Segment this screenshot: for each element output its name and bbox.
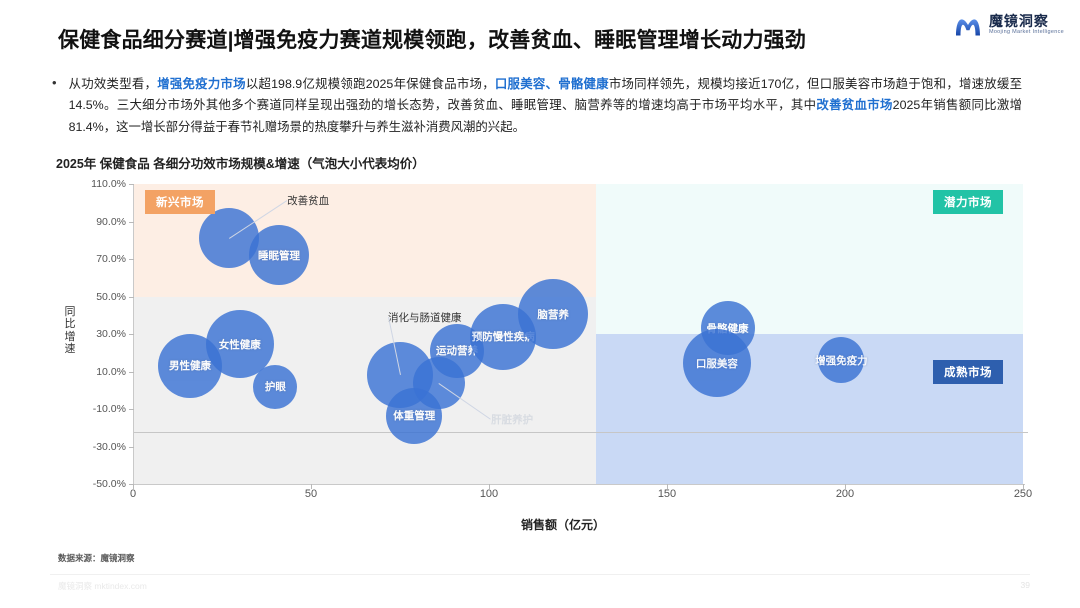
x-axis-tick-mark [311,484,312,489]
x-axis-tick-mark [667,484,668,489]
x-axis-tick-label: 200 [825,488,865,500]
y-axis-title: 同比增速 [62,306,78,355]
data-source-note: 数据来源：魔镜洞察 [58,552,135,564]
lede-text: 从功效类型看，增强免疫力市场以超198.9亿规模领跑2025年保健食品市场，口服… [69,74,1022,138]
lede-segment-1: 增强免疫力市场 [157,77,246,91]
bubble-label: 男性健康 [169,358,211,373]
bubble-1[interactable]: 睡眠管理 [249,225,309,285]
logo-name-cn: 魔镜洞察 [989,14,1064,29]
page-number: 39 [0,580,1030,590]
zone-badge-emerging: 新兴市场 [145,190,215,214]
y-axis-tick-mark [129,297,134,298]
lede-segment-0: 从功效类型看， [69,77,158,91]
y-axis-tick-label: 90.0% [58,216,126,228]
x-axis-tick-mark [1023,484,1024,489]
bubble-10[interactable]: 脑营养 [518,279,588,349]
x-axis-tick-label: 150 [647,488,687,500]
bubble-external-label: 改善贫血 [287,193,329,208]
bubble-label: 睡眠管理 [258,248,300,263]
moojing-m-logo-icon [953,10,983,40]
lede-segment-2: 以超198.9亿规模领跑2025年保健食品市场， [246,77,495,91]
x-axis-tick-label: 50 [291,488,331,500]
logo-wordmark: 魔镜洞察 Moojing Market Intelligence [989,14,1064,36]
zone-badge-potential: 潜力市场 [933,190,1003,214]
y-axis-tick-mark [129,334,134,335]
bubble-label: 增强免疫力 [815,353,868,368]
logo-name-en: Moojing Market Intelligence [989,30,1064,36]
lede-paragraph: • 从功效类型看，增强免疫力市场以超198.9亿规模领跑2025年保健食品市场，… [52,74,1022,138]
bubble-label: 口服美容 [696,356,738,371]
lede-segment-5: 改善贫血市场 [816,98,892,112]
bubble-label: 护眼 [265,379,286,394]
quadrant-mature [596,334,1023,484]
y-axis-tick-label: -30.0% [58,441,126,453]
brand-logo: 魔镜洞察 Moojing Market Intelligence [953,10,1064,40]
chart-title: 2025年 保健食品 各细分功效市场规模&增速（气泡大小代表均价） [56,153,425,172]
lede-segment-3: 口服美容、骨骼健康 [495,77,609,91]
bubble-label: 脑营养 [537,307,569,322]
x-axis-tick-mark [133,484,134,489]
x-axis-line [133,484,1025,485]
y-axis-tick-label: 110.0% [58,178,126,190]
zero-growth-line [133,432,1028,433]
x-axis-tick-mark [489,484,490,489]
bubble-label: 体重管理 [393,408,435,423]
bubble-4[interactable]: 护眼 [253,365,297,409]
footer-divider [50,574,1030,575]
zone-badge-mature: 成熟市场 [933,360,1003,384]
y-axis-tick-mark [129,447,134,448]
y-axis-tick-mark [129,372,134,373]
x-axis-tick-mark [845,484,846,489]
y-axis-tick-mark [129,259,134,260]
bubble-chart: 改善贫血睡眠管理男性健康女性健康护眼消化与肠道健康体重管理肝脏养护运动营养预防慢… [58,178,1028,508]
bubble-external-label: 肝脏养护 [491,412,533,427]
y-axis-tick-mark [129,184,134,185]
y-axis-tick-label: -10.0% [58,403,126,415]
bubble-label: 女性健康 [219,337,261,352]
x-axis-tick-label: 100 [469,488,509,500]
y-axis-tick-label: 50.0% [58,291,126,303]
x-axis-tick-label: 0 [113,488,153,500]
plot-area: 改善贫血睡眠管理男性健康女性健康护眼消化与肠道健康体重管理肝脏养护运动营养预防慢… [133,184,1023,484]
y-axis-tick-mark [129,222,134,223]
x-axis-title: 销售额（亿元） [58,516,1068,533]
y-axis-tick-label: 10.0% [58,366,126,378]
bubble-12[interactable]: 口服美容 [683,329,751,397]
y-axis-tick-mark [129,409,134,410]
bubble-external-label: 消化与肠道健康 [388,310,462,325]
bullet-marker: • [52,74,57,138]
x-axis-tick-label: 250 [1003,488,1043,500]
y-axis-tick-label: 70.0% [58,253,126,265]
page-title: 保健食品细分赛道|增强免疫力赛道规模领跑，改善贫血、睡眠管理增长动力强劲 [58,24,806,54]
